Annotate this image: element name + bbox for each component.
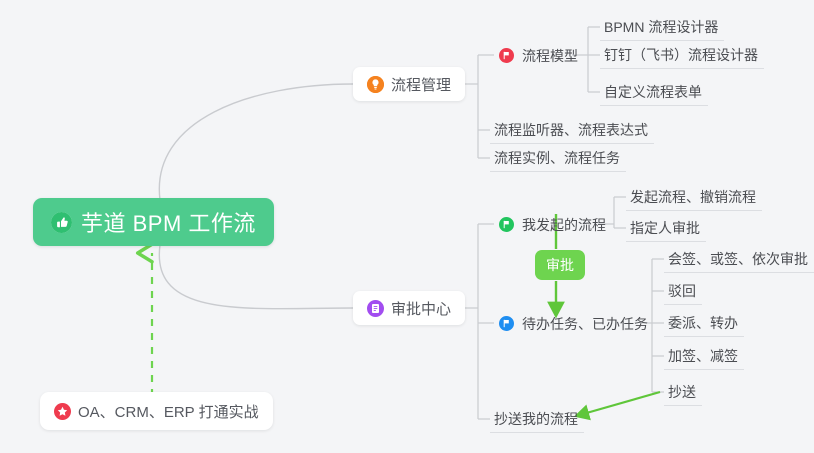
node-label: 流程模型 (522, 46, 578, 66)
node-process-listener-expression[interactable]: 流程监听器、流程表达式 (490, 117, 654, 144)
node-label: 抄送我的流程 (494, 409, 578, 429)
node-reject[interactable]: 驳回 (664, 278, 702, 305)
clipboard-icon (367, 300, 384, 317)
node-custom-process-form[interactable]: 自定义流程表单 (600, 79, 708, 106)
node-label: 会签、或签、依次审批 (668, 249, 808, 269)
thumbs-up-icon (51, 212, 72, 233)
node-label: 发起流程、撤销流程 (630, 187, 756, 207)
flag-icon (498, 216, 515, 233)
node-label: 抄送 (668, 382, 696, 402)
bottom-card-oa-crm-erp[interactable]: OA、CRM、ERP 打通实战 (40, 392, 273, 430)
flag-icon (498, 315, 515, 332)
node-label: 驳回 (668, 281, 696, 301)
branch-node-approval-center[interactable]: 审批中心 (353, 291, 465, 325)
bottom-card-label: OA、CRM、ERP 打通实战 (78, 401, 259, 422)
node-countersign-orsign-sequential[interactable]: 会签、或签、依次审批 (664, 246, 814, 273)
approval-tag-label: 审批 (546, 255, 574, 275)
node-label: 指定人审批 (630, 218, 700, 238)
node-assigned-approval[interactable]: 指定人审批 (626, 215, 706, 242)
lightbulb-icon (367, 76, 384, 93)
mindmap-canvas: 芋道 BPM 工作流 流程管理 流程模型 BPMN 流程设计器 钉钉（飞书）流程 (0, 0, 814, 453)
node-process-model[interactable]: 流程模型 (494, 42, 584, 69)
root-label: 芋道 BPM 工作流 (81, 206, 256, 238)
node-label: 我发起的流程 (522, 215, 606, 235)
node-bpmn-designer[interactable]: BPMN 流程设计器 (600, 14, 724, 41)
node-label: 流程监听器、流程表达式 (494, 120, 648, 140)
node-label: 钉钉（飞书）流程设计器 (604, 45, 758, 65)
node-start-cancel-process[interactable]: 发起流程、撤销流程 (626, 184, 762, 211)
node-label: 自定义流程表单 (604, 82, 702, 102)
node-label: 待办任务、已办任务 (522, 314, 648, 334)
node-delegate-transfer[interactable]: 委派、转办 (664, 310, 744, 337)
node-my-started-processes[interactable]: 我发起的流程 (494, 211, 612, 238)
approval-tag[interactable]: 审批 (535, 250, 585, 280)
branch-node-process-management[interactable]: 流程管理 (353, 67, 465, 101)
node-add-remove-sign[interactable]: 加签、减签 (664, 343, 744, 370)
node-process-instance-task[interactable]: 流程实例、流程任务 (490, 145, 626, 172)
node-todo-done-tasks[interactable]: 待办任务、已办任务 (494, 310, 654, 337)
branch-label: 审批中心 (391, 298, 451, 319)
node-label: 委派、转办 (668, 313, 738, 333)
node-label: BPMN 流程设计器 (604, 17, 718, 37)
flag-icon (498, 47, 515, 64)
node-cc-to-me[interactable]: 抄送我的流程 (490, 406, 584, 433)
node-dingtalk-feishu-designer[interactable]: 钉钉（飞书）流程设计器 (600, 42, 764, 69)
node-label: 流程实例、流程任务 (494, 148, 620, 168)
node-cc[interactable]: 抄送 (664, 379, 702, 406)
node-label: 加签、减签 (668, 346, 738, 366)
root-node[interactable]: 芋道 BPM 工作流 (33, 198, 274, 246)
star-icon (54, 403, 71, 420)
branch-label: 流程管理 (391, 74, 451, 95)
